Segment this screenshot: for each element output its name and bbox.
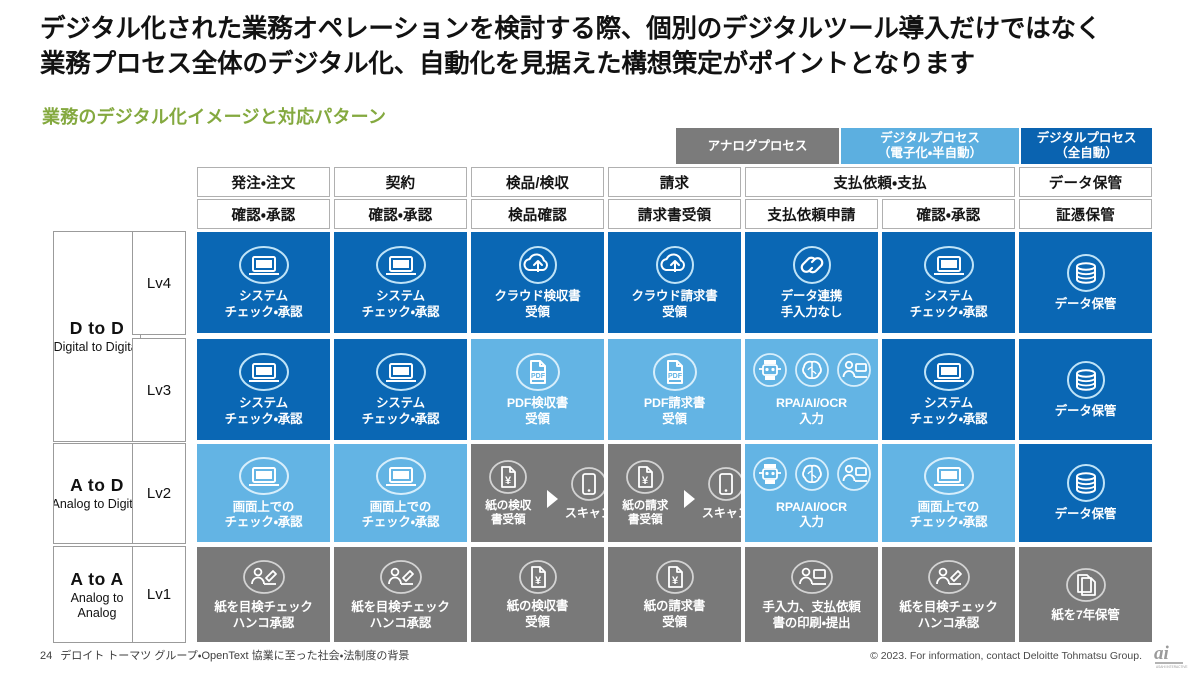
cell-lv3-order: システム チェック・承認 bbox=[197, 339, 330, 440]
cell-lv2-payment-request-line1: RPA/AI/OCR bbox=[773, 500, 850, 516]
banner-semi-label-line1: デジタルプロセス bbox=[880, 131, 980, 146]
cell-lv2-inspection-line2: 書受領 bbox=[488, 513, 528, 527]
cell-lv2-contract-line2: チェック・承認 bbox=[359, 515, 443, 531]
cell-lv3-inspection-line1: PDF検収書 bbox=[504, 396, 571, 412]
cell-lv2-inspection-paper: ¥ 紙の検収 書受領 bbox=[471, 444, 545, 542]
header-phase-contract: 契約 bbox=[334, 167, 467, 197]
brain-icon bbox=[792, 352, 832, 393]
cloud-upload-icon bbox=[651, 245, 699, 285]
cell-lv3-order-line2: チェック・承認 bbox=[222, 412, 306, 428]
mobile-scan-icon bbox=[705, 466, 741, 502]
cell-lv4-order-line1: システム bbox=[236, 289, 291, 305]
paper-stack-icon bbox=[1063, 566, 1109, 604]
cell-lv1-payment-request-line1: 手入力、支払依頼 bbox=[759, 600, 863, 616]
cell-lv3-payment-approval-line2: チェック・承認 bbox=[907, 412, 991, 428]
cell-lv2-storage-line1: データ保管 bbox=[1052, 507, 1119, 523]
cell-lv2-billing-scan: スキャン bbox=[696, 444, 741, 542]
cell-lv2-billing-split: ¥ 紙の請求 書受領 スキャン bbox=[608, 444, 741, 542]
cell-lv1-billing-line1: 紙の請求書 bbox=[641, 599, 708, 615]
cell-lv3-payment-approval: システム チェック・承認 bbox=[882, 339, 1015, 440]
header-task-order-approval: 確認・承認 bbox=[197, 199, 330, 229]
svg-text:¥: ¥ bbox=[534, 575, 541, 587]
svg-text:PDF: PDF bbox=[668, 373, 683, 380]
banner-analog-process: アナログプロセス bbox=[676, 128, 839, 164]
robot-icon bbox=[750, 456, 790, 497]
title-line-1: デジタル化された業務オペレーションを検討する際、個別のデジタルツール導入だけでは… bbox=[40, 12, 1170, 47]
brain-icon bbox=[792, 456, 832, 497]
svg-text:¥: ¥ bbox=[642, 475, 649, 487]
header-task-payment-request: 支払依頼申請 bbox=[745, 199, 878, 229]
cell-lv4-payment-request-line2: 手入力なし bbox=[778, 305, 845, 321]
group-atod-code: A to D bbox=[70, 475, 124, 496]
cell-lv2-billing-scan-label: スキャン bbox=[699, 506, 741, 520]
cell-lv2-billing-line2: 書受領 bbox=[625, 513, 665, 527]
group-analog-to-analog: A to A Analog to Analog bbox=[53, 546, 141, 643]
stamp-approval-icon bbox=[240, 558, 288, 596]
cell-lv4-billing-line1: クラウド請求書 bbox=[628, 289, 720, 305]
cell-lv2-billing: ¥ 紙の請求 書受領 スキャン bbox=[608, 444, 741, 542]
cell-lv2-order: 画面上での チェック・承認 bbox=[197, 444, 330, 542]
laptop-icon bbox=[923, 245, 975, 285]
cell-lv4-storage: データ保管 bbox=[1019, 232, 1152, 333]
cell-lv1-payment-approval: 紙を目検チェック ハンコ承認 bbox=[882, 547, 1015, 642]
group-atoa-name: Analog to Analog bbox=[54, 591, 140, 621]
slide-root: デジタル化された業務オペレーションを検討する際、個別のデジタルツール導入だけでは… bbox=[0, 0, 1200, 675]
robot-icon bbox=[750, 352, 790, 393]
database-icon bbox=[1062, 360, 1110, 400]
cell-lv2-payment-request-line2: 入力 bbox=[796, 515, 827, 531]
laptop-icon bbox=[238, 245, 290, 285]
banner-digital-semi-process: デジタルプロセス （電子化・半自動） bbox=[841, 128, 1019, 164]
cell-lv3-inspection: PDF PDF検収書 受領 bbox=[471, 339, 604, 440]
cell-lv3-contract-line2: チェック・承認 bbox=[359, 412, 443, 428]
laptop-icon bbox=[375, 456, 427, 496]
cell-lv2-inspection-line1: 紙の検収 bbox=[482, 499, 534, 513]
cell-lv3-contract: システム チェック・承認 bbox=[334, 339, 467, 440]
group-atod-name: Analog to Digital bbox=[53, 497, 141, 512]
cell-lv3-order-line1: システム bbox=[236, 396, 291, 412]
cell-lv1-billing-line2: 受領 bbox=[659, 615, 690, 631]
cell-lv1-payment-approval-line1: 紙を目検チェック bbox=[896, 600, 1000, 616]
cell-lv1-storage-line1: 紙を7年保管 bbox=[1048, 608, 1122, 624]
cell-lv4-payment-request-line1: データ連携 bbox=[778, 289, 845, 305]
cell-lv3-payment-request: RPA/AI/OCR 入力 bbox=[745, 339, 878, 440]
cell-lv2-storage: データ保管 bbox=[1019, 444, 1152, 542]
level-box-lv1: Lv1 bbox=[132, 546, 186, 643]
cell-lv4-storage-line1: データ保管 bbox=[1052, 297, 1119, 313]
ai-logo-icon: ai ASAHI INTERACTIVE bbox=[1152, 641, 1188, 669]
paper-invoice-icon: ¥ bbox=[486, 459, 530, 495]
cell-lv1-contract-line2: ハンコ承認 bbox=[367, 616, 434, 632]
cell-lv4-payment-approval: システム チェック・承認 bbox=[882, 232, 1015, 333]
header-phase-payment: 支払依頼・支払 bbox=[745, 167, 1015, 197]
level-box-lv2: Lv2 bbox=[132, 443, 186, 544]
cell-lv4-order: システム チェック・承認 bbox=[197, 232, 330, 333]
page-title: デジタル化された業務オペレーションを検討する際、個別のデジタルツール導入だけでは… bbox=[40, 12, 1170, 82]
stamp-approval-icon bbox=[377, 558, 425, 596]
svg-text:PDF: PDF bbox=[531, 373, 546, 380]
pdf-file-icon: PDF bbox=[514, 352, 562, 392]
laptop-icon bbox=[375, 352, 427, 392]
laptop-icon bbox=[923, 352, 975, 392]
cell-lv3-contract-line1: システム bbox=[373, 396, 428, 412]
banner-digital-full-process: デジタルプロセス （全自動） bbox=[1021, 128, 1152, 164]
level-box-lv4: Lv4 bbox=[132, 231, 186, 335]
cell-lv3-storage-line1: データ保管 bbox=[1052, 404, 1119, 420]
cell-lv1-inspection-line2: 受領 bbox=[522, 615, 553, 631]
cell-lv1-payment-approval-line2: ハンコ承認 bbox=[915, 616, 982, 632]
group-atoa-code: A to A bbox=[70, 569, 123, 590]
cell-lv4-payment-approval-line2: チェック・承認 bbox=[907, 305, 991, 321]
title-line-2: 業務プロセス全体のデジタル化、自動化を見据えた構想策定がポイントとなります bbox=[40, 47, 1170, 82]
footer-left: 24 デロイト トーマツ グループ・OpenText 協業に至った社会・法制度の… bbox=[40, 647, 409, 663]
laptop-icon bbox=[375, 245, 427, 285]
cell-lv3-billing: PDF PDF請求書 受領 bbox=[608, 339, 741, 440]
cell-lv1-billing: ¥ 紙の請求書 受領 bbox=[608, 547, 741, 642]
cell-lv3-payment-approval-line1: システム bbox=[921, 396, 976, 412]
cell-lv4-inspection-line2: 受領 bbox=[522, 305, 553, 321]
footer-left-text: デロイト トーマツ グループ・OpenText 協業に至った社会・法制度の背景 bbox=[60, 647, 409, 663]
cell-lv1-contract-line1: 紙を目検チェック bbox=[348, 600, 452, 616]
cell-lv3-inspection-line2: 受領 bbox=[522, 412, 553, 428]
pdf-file-icon: PDF bbox=[651, 352, 699, 392]
cell-lv2-order-line1: 画面上での bbox=[230, 500, 297, 516]
header-task-payment-approval: 確認・承認 bbox=[882, 199, 1015, 229]
database-icon bbox=[1062, 463, 1110, 503]
cloud-upload-icon bbox=[514, 245, 562, 285]
cell-lv2-billing-line1: 紙の請求 bbox=[619, 499, 671, 513]
footer-copyright: © 2023. For information, contact Deloitt… bbox=[870, 650, 1142, 662]
header-phase-data-storage: データ保管 bbox=[1019, 167, 1152, 197]
header-task-inspection-check: 検品確認 bbox=[471, 199, 604, 229]
paper-invoice-icon: ¥ bbox=[623, 459, 667, 495]
cell-lv1-payment-request-line2: 書の印刷・提出 bbox=[770, 616, 854, 632]
cell-lv1-inspection: ¥ 紙の検収書 受領 bbox=[471, 547, 604, 642]
cell-lv4-contract: システム チェック・承認 bbox=[334, 232, 467, 333]
cell-lv3-storage: データ保管 bbox=[1019, 339, 1152, 440]
cell-lv1-order-line2: ハンコ承認 bbox=[230, 616, 297, 632]
cell-lv2-inspection: ¥ 紙の検収 書受領 スキャン bbox=[471, 444, 604, 542]
header-phase-inspection: 検品/検収 bbox=[471, 167, 604, 197]
cell-lv4-payment-approval-line1: システム bbox=[921, 289, 976, 305]
svg-text:ai: ai bbox=[1154, 643, 1170, 664]
robot-brain-ocr-icons bbox=[750, 352, 874, 393]
paper-invoice-icon: ¥ bbox=[516, 559, 560, 595]
cell-lv4-payment-request: データ連携 手入力なし bbox=[745, 232, 878, 333]
arrow-right-icon bbox=[545, 456, 559, 542]
cell-lv1-storage: 紙を7年保管 bbox=[1019, 547, 1152, 642]
person-monitor-icon bbox=[834, 352, 874, 393]
cell-lv4-billing-line2: 受領 bbox=[659, 305, 690, 321]
arrow-right-icon bbox=[682, 456, 696, 542]
header-phase-order: 発注・注文 bbox=[197, 167, 330, 197]
person-monitor-icon bbox=[788, 558, 836, 596]
robot-brain-ocr-icons bbox=[750, 456, 874, 497]
level-box-lv3: Lv3 bbox=[132, 338, 186, 442]
cell-lv3-payment-request-line1: RPA/AI/OCR bbox=[773, 396, 850, 412]
cell-lv1-order-line1: 紙を目検チェック bbox=[211, 600, 315, 616]
header-task-contract-approval: 確認・承認 bbox=[334, 199, 467, 229]
database-icon bbox=[1062, 253, 1110, 293]
banner-full-label-line1: デジタルプロセス bbox=[1037, 131, 1137, 146]
laptop-icon bbox=[238, 456, 290, 496]
cell-lv4-order-line2: チェック・承認 bbox=[222, 305, 306, 321]
laptop-icon bbox=[238, 352, 290, 392]
header-task-evidence-storage: 証憑保管 bbox=[1019, 199, 1152, 229]
svg-text:¥: ¥ bbox=[671, 575, 678, 587]
cell-lv4-inspection: クラウド検収書 受領 bbox=[471, 232, 604, 333]
cell-lv4-inspection-line1: クラウド検収書 bbox=[491, 289, 583, 305]
page-number: 24 bbox=[40, 650, 52, 662]
mobile-scan-icon bbox=[568, 466, 604, 502]
banner-full-label-line2: （全自動） bbox=[1055, 146, 1118, 161]
banner-analog-label: アナログプロセス bbox=[708, 139, 808, 154]
laptop-icon bbox=[923, 456, 975, 496]
cell-lv3-billing-line1: PDF請求書 bbox=[641, 396, 708, 412]
cell-lv2-payment-approval-line2: チェック・承認 bbox=[907, 515, 991, 531]
cell-lv4-billing: クラウド請求書 受領 bbox=[608, 232, 741, 333]
cell-lv1-contract: 紙を目検チェック ハンコ承認 bbox=[334, 547, 467, 642]
cell-lv2-inspection-scan-label: スキャン bbox=[562, 506, 604, 520]
header-phase-billing: 請求 bbox=[608, 167, 741, 197]
stamp-approval-icon bbox=[925, 558, 973, 596]
paper-invoice-icon: ¥ bbox=[653, 559, 697, 595]
cell-lv3-billing-line2: 受領 bbox=[659, 412, 690, 428]
link-chain-icon bbox=[788, 245, 836, 285]
cell-lv2-inspection-split: ¥ 紙の検収 書受領 スキャン bbox=[471, 444, 604, 542]
cell-lv2-payment-request: RPA/AI/OCR 入力 bbox=[745, 444, 878, 542]
svg-text:ASAHI INTERACTIVE: ASAHI INTERACTIVE bbox=[1156, 665, 1188, 669]
group-dtod-code: D to D bbox=[70, 318, 125, 339]
header-task-invoice-receipt: 請求書受領 bbox=[608, 199, 741, 229]
cell-lv2-order-line2: チェック・承認 bbox=[222, 515, 306, 531]
cell-lv2-payment-approval-line1: 画面上での bbox=[915, 500, 982, 516]
section-subtitle: 業務のデジタル化イメージと対応パターン bbox=[42, 103, 386, 129]
group-dtod-name: Digital to Digital bbox=[54, 340, 141, 355]
person-monitor-icon bbox=[834, 456, 874, 497]
cell-lv2-inspection-scan: スキャン bbox=[559, 444, 604, 542]
cell-lv2-contract: 画面上での チェック・承認 bbox=[334, 444, 467, 542]
group-analog-to-digital: A to D Analog to Digital bbox=[53, 443, 141, 544]
cell-lv3-payment-request-line2: 入力 bbox=[796, 412, 827, 428]
cell-lv1-payment-request: 手入力、支払依頼 書の印刷・提出 bbox=[745, 547, 878, 642]
cell-lv1-order: 紙を目検チェック ハンコ承認 bbox=[197, 547, 330, 642]
svg-text:¥: ¥ bbox=[505, 475, 512, 487]
cell-lv2-contract-line1: 画面上での bbox=[367, 500, 434, 516]
cell-lv4-contract-line2: チェック・承認 bbox=[359, 305, 443, 321]
cell-lv2-payment-approval: 画面上での チェック・承認 bbox=[882, 444, 1015, 542]
group-digital-to-digital: D to D Digital to Digital bbox=[53, 231, 141, 442]
cell-lv2-billing-paper: ¥ 紙の請求 書受領 bbox=[608, 444, 682, 542]
cell-lv1-inspection-line1: 紙の検収書 bbox=[504, 599, 571, 615]
cell-lv4-contract-line1: システム bbox=[373, 289, 428, 305]
banner-semi-label-line2: （電子化・半自動） bbox=[878, 146, 982, 161]
